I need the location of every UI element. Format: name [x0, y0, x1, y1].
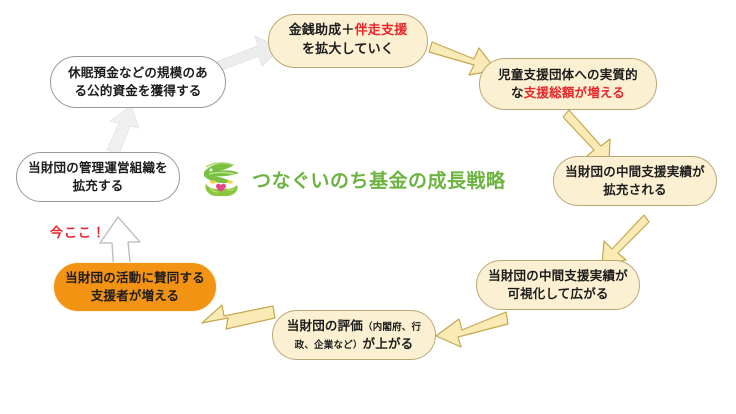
node-reputation-rises-text: 当財団の評価（内閣府、行 政、企業など）が上がる — [281, 317, 427, 353]
node-intermediary-results-expand-text: 当財団の中間支援実績が 拡充される — [562, 163, 708, 199]
node-acquire-public-funds[interactable]: 休眠預金などの規模のあ る公的資金を獲得する — [50, 56, 226, 108]
node-intermediary-results-expand[interactable]: 当財団の中間支援実績が 拡充される — [553, 156, 717, 206]
node-total-support-increases-text: 児童支援団体への実質的 な支援総額が増える — [488, 66, 648, 102]
node-intermediary-results-visible[interactable]: 当財団の中間支援実績が 可視化して広がる — [476, 260, 640, 310]
node-supporters-increase-text: 当財団の活動に賛同する 支援者が増える — [62, 269, 208, 305]
growth-strategy-diagram: 金銭助成＋伴走支援 を拡大していく 児童支援団体への実質的 な支援総額が増える … — [0, 0, 736, 414]
brand-block: つなぐいのち基金の成長戦略 — [200, 158, 506, 200]
node-expand-management-org[interactable]: 当財団の管理運営組織を 拡充する — [16, 152, 180, 202]
arrow-management-to-funds — [99, 104, 151, 156]
node-expand-grants[interactable]: 金銭助成＋伴走支援 を拡大していく — [268, 14, 428, 68]
node-total-support-increases[interactable]: 児童支援団体への実質的 な支援総額が増える — [479, 58, 657, 110]
current-position-label: 今ここ！ — [50, 222, 106, 241]
diagram-title: つなぐいのち基金の成長戦略 — [252, 166, 506, 193]
node-acquire-public-funds-text: 休眠預金などの規模のあ る公的資金を獲得する — [59, 64, 217, 100]
node-reputation-rises[interactable]: 当財団の評価（内閣府、行 政、企業など）が上がる — [272, 310, 436, 360]
node-supporters-increase[interactable]: 当財団の活動に賛同する 支援者が増える — [53, 262, 217, 312]
node-expand-management-org-text: 当財団の管理運営組織を 拡充する — [25, 159, 171, 195]
green-bird-hands-logo-icon — [200, 158, 244, 200]
arrow-visible-to-reputation — [432, 306, 510, 358]
node-intermediary-results-visible-text: 当財団の中間支援実績が 可視化して広がる — [485, 267, 631, 303]
node-expand-grants-text: 金銭助成＋伴走支援 を拡大していく — [277, 22, 419, 60]
